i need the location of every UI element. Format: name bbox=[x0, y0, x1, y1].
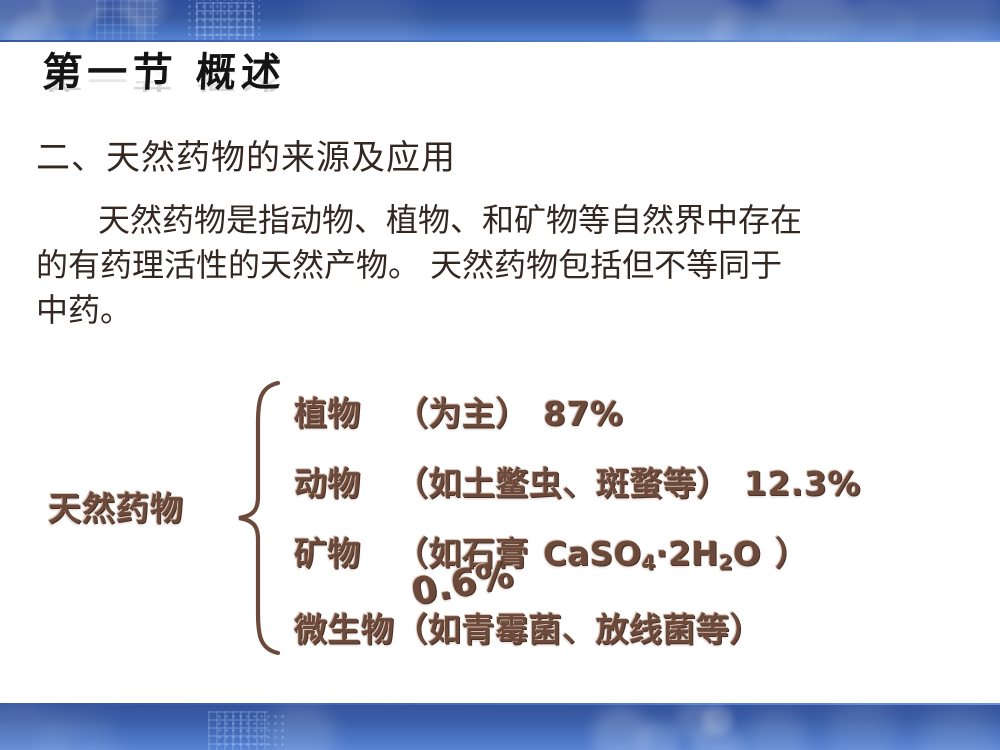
top-decorative-banner bbox=[0, 0, 1000, 42]
row-note-suffix: ） bbox=[775, 534, 809, 573]
banner-dot-grid bbox=[196, 2, 254, 42]
row-percent: 87% bbox=[543, 394, 624, 433]
formula-part: ·2H bbox=[656, 534, 719, 573]
banner-glow bbox=[300, 0, 420, 42]
formula-part: CaSO bbox=[543, 534, 641, 573]
banner-dot-grid bbox=[96, 0, 158, 42]
row-category: 植物 bbox=[294, 394, 361, 433]
footer-bubble bbox=[916, 707, 1000, 750]
footer-bubble bbox=[826, 703, 898, 750]
curly-brace-icon bbox=[234, 379, 288, 657]
bottom-decorative-banner bbox=[0, 703, 1000, 750]
banner-bubble bbox=[846, 0, 916, 42]
row-note: （如土鳖虫、斑蝥等） bbox=[395, 464, 730, 503]
row-note: （如青霉菌、放线菌等） bbox=[395, 610, 764, 649]
diagram-row: 植物（为主）87% bbox=[294, 387, 624, 435]
row-category: 矿物 bbox=[294, 534, 361, 573]
row-category: 微生物 bbox=[294, 610, 395, 649]
diagram-label: 天然药物 bbox=[48, 482, 184, 530]
diagram-row: 动物（如土鳖虫、斑蝥等）12.3% bbox=[294, 457, 861, 505]
formula-part: O bbox=[733, 534, 761, 573]
row-category: 动物 bbox=[294, 464, 361, 503]
slide-canvas: 第一节 概述 第一节 概述 二、天然药物的来源及应用 天然药物是指动物、植物、和… bbox=[0, 0, 1000, 750]
diagram-rows: 植物（为主）87% 动物（如土鳖虫、斑蝥等）12.3% 矿物（如石膏CaSO4·… bbox=[294, 375, 1000, 665]
formula-subscript: 2 bbox=[719, 551, 733, 575]
footer-bubble bbox=[746, 711, 808, 750]
footer-bubble bbox=[702, 705, 732, 735]
paragraph-line-2: 的有药理活性的天然产物。 天然药物包括但不等同于 bbox=[36, 246, 782, 284]
banner-edge-line bbox=[0, 40, 1000, 42]
row-percent: 12.3% bbox=[744, 464, 861, 503]
paragraph-line-1: 天然药物是指动物、植物、和矿物等自然界中存在 bbox=[98, 201, 802, 239]
diagram-row: 微生物（如青霉菌、放线菌等） bbox=[294, 603, 763, 651]
chemical-formula: CaSO4·2H2O bbox=[543, 534, 761, 573]
row-note: （为主） bbox=[395, 394, 529, 433]
footer-bubble bbox=[266, 703, 336, 750]
banner-bubble bbox=[908, 0, 1000, 42]
classification-diagram: 天然药物 植物（为主）87% 动物（如土鳖虫、斑蝥等）12.3% 矿物（如石膏C… bbox=[0, 375, 1000, 665]
paragraph-line-3: 中药。 bbox=[36, 291, 132, 329]
diagram-row: 矿物（如石膏CaSO4·2H2O） bbox=[294, 527, 808, 575]
slide-title-block: 第一节 概述 第一节 概述 bbox=[42, 52, 462, 130]
section-subheading: 二、天然药物的来源及应用 bbox=[36, 130, 456, 179]
body-paragraph: 天然药物是指动物、植物、和矿物等自然界中存在 的有药理活性的天然产物。 天然药物… bbox=[36, 198, 966, 333]
page-title: 第一节 概述 bbox=[41, 52, 463, 94]
formula-subscript: 4 bbox=[641, 551, 655, 575]
banner-bubble bbox=[766, 0, 852, 42]
